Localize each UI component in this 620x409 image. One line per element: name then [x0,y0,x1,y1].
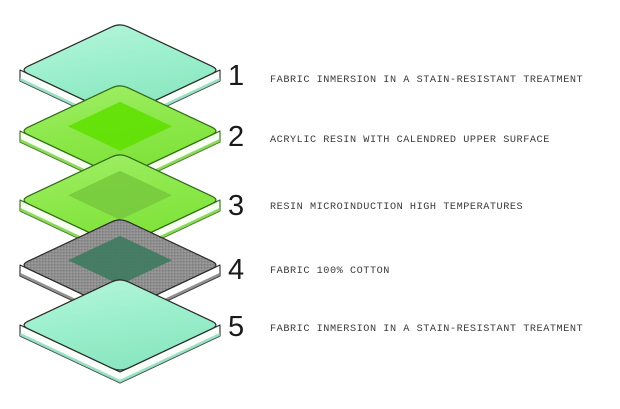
layer-number-3: 3 [228,192,244,221]
layer-label-2: ACRYLIC RESIN WITH CALENDRED UPPER SURFA… [270,136,550,146]
layer-slab-5 [20,280,220,383]
diagram-canvas: 1 FABRIC INMERSION IN A STAIN-RESISTANT … [0,0,620,409]
slab-top-5 [24,280,216,370]
layer-number-4: 4 [228,256,244,285]
layer-label-1: FABRIC INMERSION IN A STAIN-RESISTANT TR… [270,76,583,86]
layer-label-4: FABRIC 100% COTTON [270,267,390,277]
layer-label-3: RESIN MICROINDUCTION HIGH TEMPERATURES [270,203,523,213]
layer-label-5: FABRIC INMERSION IN A STAIN-RESISTANT TR… [270,325,583,335]
layer-number-1: 1 [228,62,244,91]
layer-number-5: 5 [228,313,244,342]
layer-number-2: 2 [228,123,244,152]
